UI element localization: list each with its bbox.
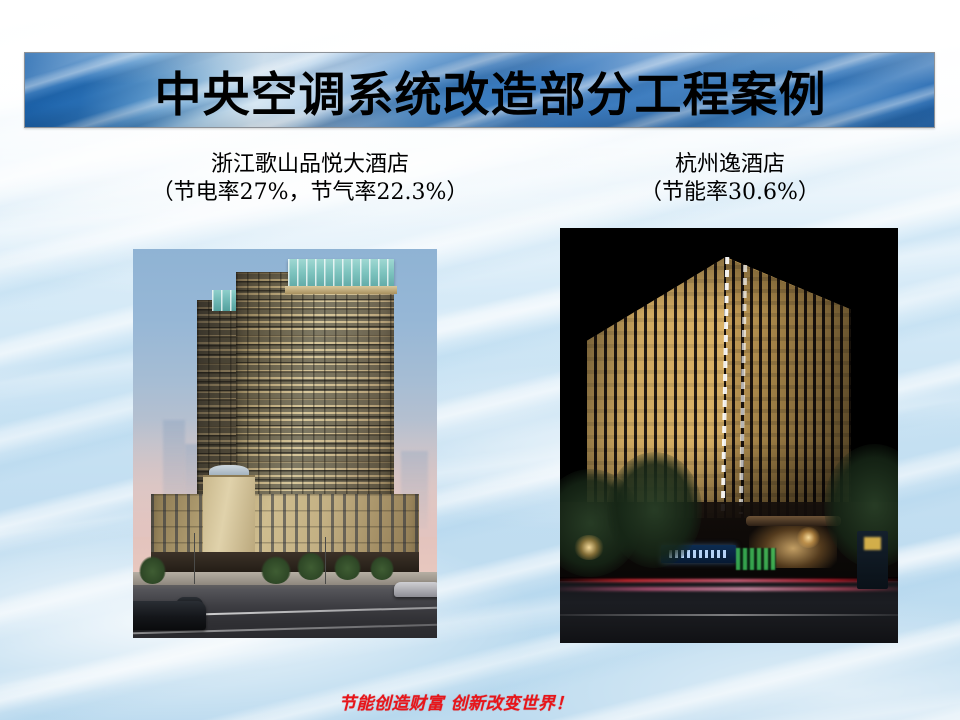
photo-left-tree: [261, 556, 291, 583]
photo-left-crown-cap: [285, 286, 397, 295]
case-photo-left: [133, 249, 437, 638]
photo-right-kiosk-light: [864, 537, 881, 549]
photo-left-street-lamp: [325, 537, 327, 584]
photo-left-crown-main: [288, 259, 394, 288]
photo-left-tree: [297, 552, 324, 579]
case-metrics-right: （节能率30.6%）: [565, 180, 895, 206]
case-caption-left: 浙江歌山品悦大酒店 （节电率27%，节气率22.3%）: [60, 152, 560, 205]
photo-left-tree: [370, 556, 394, 579]
photo-left-crown-mullions: [288, 259, 394, 288]
photo-right-street-light: [574, 535, 604, 560]
photo-right-road-line: [560, 614, 898, 616]
photo-right-lit-shrubs: [736, 548, 777, 571]
photo-left-tree: [139, 556, 166, 583]
photo-left-car: [133, 601, 206, 630]
footer-slogan: 节能创造财富 创新改变世界！: [0, 689, 960, 714]
slide-canvas: 中央空调系统改造部分工程案例 浙江歌山品悦大酒店 （节电率27%，节气率22.3…: [0, 0, 960, 720]
title-banner: 中央空调系统改造部分工程案例: [24, 52, 935, 128]
photo-left-tower-main: [236, 272, 394, 513]
case-photo-right: [560, 228, 898, 643]
case-name-left: 浙江歌山品悦大酒店: [60, 152, 560, 178]
case-name-right: 杭州逸酒店: [565, 152, 895, 178]
case-caption-right: 杭州逸酒店 （节能率30.6%）: [565, 152, 895, 205]
photo-right-light-trail: [560, 579, 898, 582]
photo-left-tower-glass: [236, 272, 394, 513]
photo-right-light-trail: [560, 587, 898, 591]
photo-left-tree: [334, 554, 361, 579]
photo-left-car: [394, 582, 437, 598]
case-metrics-left: （节电率27%，节气率22.3%）: [60, 180, 560, 206]
photo-right-tree: [607, 452, 702, 568]
photo-left-street-lamp: [194, 533, 196, 584]
page-title: 中央空调系统改造部分工程案例: [25, 53, 934, 127]
photo-right-street-light: [797, 527, 821, 548]
